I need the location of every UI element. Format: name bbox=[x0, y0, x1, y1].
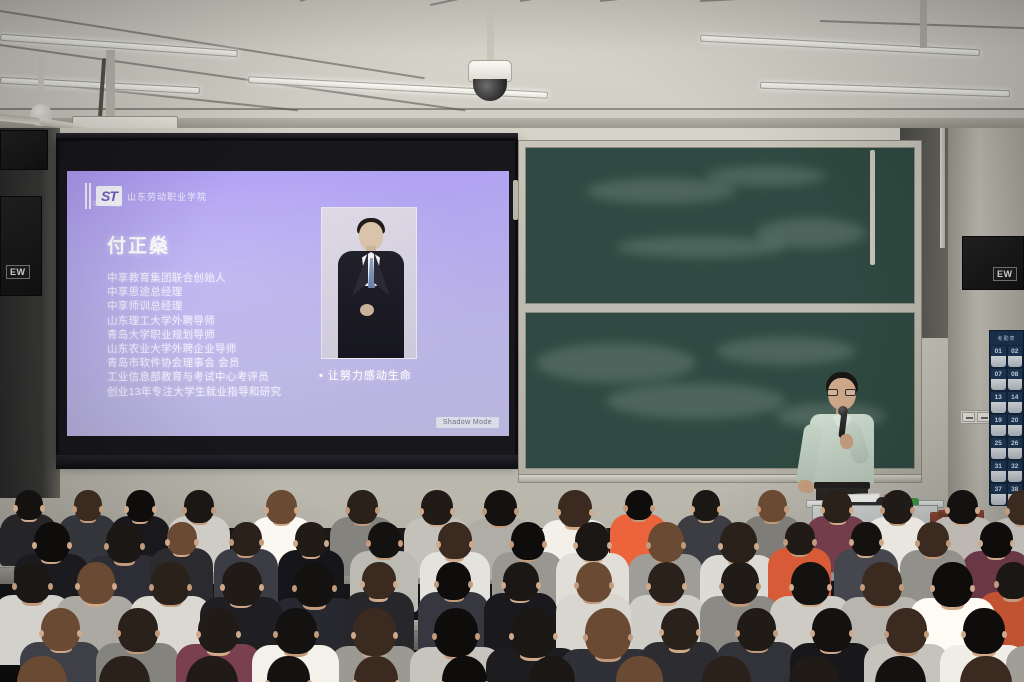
student-ear bbox=[812, 539, 817, 546]
slide-title: 付正燊 bbox=[107, 231, 170, 258]
student-head bbox=[511, 608, 556, 658]
student-ear bbox=[360, 581, 365, 588]
blackboard-panel-upper bbox=[525, 147, 915, 304]
student-ear bbox=[827, 584, 832, 591]
student bbox=[504, 656, 600, 682]
portrait-hand bbox=[360, 304, 374, 316]
student-ear bbox=[810, 630, 815, 637]
student-ear bbox=[553, 633, 558, 640]
power-outlet[interactable] bbox=[962, 412, 975, 422]
student-ear bbox=[165, 539, 170, 546]
number-chart-pocket bbox=[991, 356, 1006, 367]
student-ear bbox=[628, 634, 633, 641]
audience-seating bbox=[0, 470, 1024, 682]
number-chart-cell: 02 bbox=[1007, 345, 1024, 368]
student-ear bbox=[910, 507, 915, 514]
student-ear bbox=[696, 629, 701, 636]
student-head bbox=[886, 608, 927, 653]
student-ear bbox=[756, 583, 761, 590]
student-ear bbox=[783, 539, 788, 546]
number-chart-row: 1920 bbox=[990, 414, 1023, 437]
student-head bbox=[862, 562, 902, 606]
student-ear bbox=[469, 541, 474, 548]
student-ear bbox=[1010, 540, 1015, 547]
student-ear bbox=[152, 506, 157, 513]
student-ear bbox=[682, 583, 687, 590]
wall-speaker-top-left bbox=[0, 130, 48, 170]
student-head bbox=[648, 562, 685, 603]
wall-pipe bbox=[940, 128, 945, 248]
student-ear bbox=[789, 584, 794, 591]
student-head bbox=[616, 656, 663, 682]
ceiling-conduit-rod bbox=[920, 0, 927, 48]
number-chart-row: 0708 bbox=[990, 368, 1023, 391]
slide-bullet-list: 中享教育集团联合创始人中享思途总经理中享师训总经理山东理工大学外聘导师青岛大学职… bbox=[107, 271, 281, 399]
student-head bbox=[434, 608, 478, 657]
student-head bbox=[368, 522, 401, 558]
projector-mount-rod bbox=[106, 50, 115, 118]
student-ear bbox=[194, 539, 199, 546]
student-ear bbox=[915, 540, 920, 547]
student-head bbox=[851, 522, 882, 556]
student-ear bbox=[273, 631, 278, 638]
shadow-mode-watermark: Shadow Mode bbox=[436, 417, 499, 428]
student-ear bbox=[259, 584, 264, 591]
student-head bbox=[812, 608, 852, 652]
number-chart-header: 考勤表 bbox=[990, 331, 1023, 345]
student-head bbox=[167, 522, 197, 555]
student-ear bbox=[140, 543, 145, 550]
student bbox=[1014, 656, 1024, 682]
student-ear bbox=[754, 543, 759, 550]
student-ear bbox=[67, 542, 72, 549]
student-ear bbox=[609, 582, 614, 589]
student-head bbox=[118, 608, 158, 652]
slide-bullet-item: 青岛大学职业规划导师 bbox=[107, 328, 281, 342]
ceiling-fan-rod bbox=[38, 58, 44, 108]
student-ear bbox=[294, 507, 299, 514]
student-ear bbox=[39, 630, 44, 637]
student-ear bbox=[40, 505, 45, 512]
classroom-photo-scene: EW EW ST 山东劳动职业学院 中国制造 付正燊 中享教育集团联合创始人中享… bbox=[0, 0, 1024, 682]
wall-speaker-right: EW bbox=[962, 236, 1024, 290]
student bbox=[762, 656, 865, 682]
student-ear bbox=[393, 581, 398, 588]
student-ear bbox=[236, 631, 241, 638]
student-head bbox=[106, 522, 143, 563]
student-ear bbox=[351, 632, 356, 639]
student-head bbox=[186, 656, 238, 682]
student-ear bbox=[961, 631, 966, 638]
student-ear bbox=[501, 582, 506, 589]
student-head bbox=[151, 562, 190, 605]
student-ear bbox=[72, 506, 77, 513]
student-head bbox=[758, 490, 787, 522]
student-ear bbox=[930, 585, 935, 592]
student-ear bbox=[475, 633, 480, 640]
student-head bbox=[875, 656, 926, 682]
student-ear bbox=[849, 507, 854, 514]
student-ear bbox=[264, 507, 269, 514]
student-ear bbox=[229, 539, 234, 546]
student-ear bbox=[48, 583, 53, 590]
student-ear bbox=[366, 540, 371, 547]
number-chart-cell: 07 bbox=[990, 368, 1007, 391]
wall-speaker-left: EW bbox=[0, 196, 42, 296]
student-ear bbox=[646, 583, 651, 590]
slide-portrait-photo bbox=[321, 207, 417, 359]
student-ear bbox=[375, 507, 380, 514]
number-chart-row: 2526 bbox=[990, 437, 1023, 460]
student-head bbox=[980, 522, 1013, 558]
board-slide-handle bbox=[513, 180, 518, 220]
student-head bbox=[484, 490, 517, 526]
student-ear bbox=[880, 507, 885, 514]
student-ear bbox=[482, 508, 487, 515]
number-chart-pocket bbox=[991, 425, 1006, 436]
speaker-brand-label: EW bbox=[993, 267, 1017, 281]
number-chart-pocket bbox=[1008, 379, 1023, 390]
student-head bbox=[963, 608, 1005, 654]
number-chart-cell: 20 bbox=[1007, 414, 1024, 437]
student-head bbox=[17, 656, 67, 682]
student-ear bbox=[650, 505, 655, 512]
presentation-slide: ST 山东劳动职业学院 中国制造 付正燊 中享教育集团联合创始人中享思途总经理中… bbox=[67, 171, 509, 436]
number-chart-cell: 25 bbox=[990, 437, 1007, 460]
student-ear bbox=[398, 540, 403, 547]
student-head bbox=[702, 656, 751, 682]
student-head bbox=[585, 608, 631, 659]
student-head bbox=[661, 608, 699, 650]
student-ear bbox=[149, 584, 154, 591]
student-head bbox=[882, 490, 913, 524]
student-ear bbox=[514, 508, 519, 515]
student-head bbox=[99, 656, 150, 682]
student-ear bbox=[946, 540, 951, 547]
student-head bbox=[1007, 490, 1024, 525]
number-chart-pocket bbox=[1008, 448, 1023, 459]
student-head bbox=[353, 608, 396, 656]
number-chart-pocket bbox=[1008, 402, 1023, 413]
student-head bbox=[15, 490, 43, 520]
student-ear bbox=[196, 631, 201, 638]
student-ear bbox=[13, 505, 18, 512]
slide-quote: • 让努力感动生命 bbox=[319, 367, 412, 383]
student-ear bbox=[393, 632, 398, 639]
student-ear bbox=[717, 506, 722, 513]
microphone-head bbox=[838, 406, 848, 416]
student-head bbox=[648, 522, 684, 562]
student-head bbox=[576, 562, 612, 602]
student-ear bbox=[99, 506, 104, 513]
student-ear bbox=[293, 540, 298, 547]
student-ear bbox=[509, 541, 514, 548]
camera-mount-rod bbox=[487, 0, 494, 62]
student-ear bbox=[182, 507, 187, 514]
student-ear bbox=[945, 507, 950, 514]
student-ear bbox=[211, 507, 216, 514]
student-ear bbox=[756, 506, 761, 513]
student bbox=[676, 656, 776, 682]
student-ear bbox=[536, 582, 541, 589]
student-head bbox=[184, 490, 214, 523]
student-ear bbox=[574, 582, 579, 589]
student-ear bbox=[434, 581, 439, 588]
student-ear bbox=[124, 506, 129, 513]
student-ear bbox=[509, 633, 514, 640]
speaker-brand-label: EW bbox=[6, 265, 30, 279]
student-ear bbox=[849, 630, 854, 637]
student-ear bbox=[970, 585, 975, 592]
student-head bbox=[996, 562, 1024, 599]
student-ear bbox=[155, 630, 160, 637]
student-head bbox=[14, 562, 51, 603]
logo-institution-name: 山东劳动职业学院 bbox=[127, 190, 207, 203]
student bbox=[418, 656, 511, 682]
student-head bbox=[347, 490, 378, 524]
number-chart-pocket bbox=[1008, 425, 1023, 436]
student-head bbox=[222, 562, 262, 606]
student-head bbox=[275, 608, 317, 654]
slide-bullet-item: 工业信息部教育与考试中心考评员 bbox=[107, 370, 281, 384]
student-ear bbox=[820, 507, 825, 514]
number-chart-cell: 08 bbox=[1007, 368, 1024, 391]
student bbox=[330, 656, 421, 682]
student-head bbox=[575, 522, 610, 561]
student-ear bbox=[646, 542, 651, 549]
student-ear bbox=[718, 543, 723, 550]
number-chart-pocket bbox=[1008, 356, 1023, 367]
student-ear bbox=[589, 509, 594, 516]
student-ear bbox=[468, 581, 473, 588]
student-head bbox=[41, 608, 80, 651]
student-ear bbox=[75, 583, 80, 590]
student-ear bbox=[220, 584, 225, 591]
number-chart-pocket bbox=[991, 448, 1006, 459]
number-chart-cell: 01 bbox=[990, 345, 1007, 368]
student-ear bbox=[324, 540, 329, 547]
student-head bbox=[77, 562, 115, 604]
student-ear bbox=[849, 539, 854, 546]
student bbox=[244, 656, 332, 682]
student-head bbox=[947, 490, 978, 524]
student-ear bbox=[77, 630, 82, 637]
slide-bullet-item: 创业13年专注大学生就业指导和研究 bbox=[107, 385, 281, 399]
student-ear bbox=[690, 506, 695, 513]
student-ear bbox=[419, 508, 424, 515]
student-head bbox=[295, 522, 327, 557]
student-head bbox=[74, 490, 102, 521]
student-ear bbox=[784, 506, 789, 513]
number-chart-row: 0102 bbox=[990, 345, 1023, 368]
board-slide-handle bbox=[870, 150, 875, 265]
student-ear bbox=[432, 633, 437, 640]
student-head bbox=[791, 562, 830, 605]
student-ear bbox=[884, 631, 889, 638]
number-chart-row: 1314 bbox=[990, 391, 1023, 414]
student-head bbox=[737, 608, 776, 651]
student-head bbox=[231, 522, 262, 556]
student-ear bbox=[187, 584, 192, 591]
student-ear bbox=[332, 585, 337, 592]
student-ear bbox=[607, 542, 612, 549]
student-ear bbox=[12, 583, 17, 590]
student-ear bbox=[773, 630, 778, 637]
projection-screen: ST 山东劳动职业学院 中国制造 付正燊 中享教育集团联合创始人中享思途总经理中… bbox=[56, 138, 518, 463]
student-head bbox=[917, 522, 949, 557]
student-head bbox=[354, 656, 398, 682]
student-ear bbox=[719, 583, 724, 590]
slide-bullet-item: 山东理工大学外聘导师 bbox=[107, 314, 281, 328]
student-head bbox=[511, 522, 545, 560]
student-head bbox=[438, 522, 472, 559]
student-ear bbox=[450, 508, 455, 515]
student bbox=[932, 656, 1024, 682]
student-head bbox=[721, 562, 759, 604]
student-head bbox=[720, 522, 757, 563]
number-chart-pocket bbox=[991, 402, 1006, 413]
student-head bbox=[34, 522, 70, 562]
student-head bbox=[198, 608, 239, 653]
number-chart-cell: 14 bbox=[1007, 391, 1024, 414]
student-head bbox=[932, 562, 973, 607]
student-ear bbox=[345, 507, 350, 514]
number-chart-cell: 26 bbox=[1007, 437, 1024, 460]
student bbox=[590, 656, 688, 682]
logo-accent-bars bbox=[85, 183, 91, 209]
student-head bbox=[692, 490, 720, 521]
number-chart-cell: 13 bbox=[990, 391, 1007, 414]
student-ear bbox=[116, 630, 121, 637]
number-chart-cell: 19 bbox=[990, 414, 1007, 437]
student-head bbox=[362, 562, 396, 599]
student-head bbox=[625, 490, 653, 520]
student-ear bbox=[259, 539, 264, 546]
student-ear bbox=[975, 507, 980, 514]
student-ear bbox=[860, 584, 865, 591]
student-head bbox=[266, 490, 297, 524]
left-wall-shadow bbox=[0, 128, 60, 498]
number-chart-pocket bbox=[991, 379, 1006, 390]
student-head bbox=[442, 656, 487, 682]
student-head bbox=[421, 490, 453, 525]
student-ear bbox=[436, 541, 441, 548]
student-head bbox=[126, 490, 155, 522]
student-ear bbox=[879, 539, 884, 546]
slide-bullet-item: 山东农业大学外聘企业导师 bbox=[107, 342, 281, 356]
glasses-icon bbox=[827, 389, 857, 396]
student-ear bbox=[924, 631, 929, 638]
student-ear bbox=[573, 542, 578, 549]
student-head bbox=[294, 562, 335, 607]
student-ear bbox=[681, 542, 686, 549]
student-ear bbox=[314, 631, 319, 638]
student-ear bbox=[1005, 508, 1010, 515]
student-ear bbox=[899, 584, 904, 591]
slide-bullet-item: 中享师训总经理 bbox=[107, 299, 281, 313]
slide-bullet-item: 中享教育集团联合创始人 bbox=[107, 271, 281, 285]
student-ear bbox=[735, 630, 740, 637]
student-ear bbox=[556, 509, 561, 516]
student-head bbox=[503, 562, 539, 601]
student-ear bbox=[978, 540, 983, 547]
student-head bbox=[436, 562, 471, 600]
student-ear bbox=[32, 542, 37, 549]
student-ear bbox=[583, 634, 588, 641]
logo-subtitle: 中国制造 bbox=[93, 199, 121, 208]
student-ear bbox=[659, 629, 664, 636]
student-head bbox=[960, 656, 1012, 682]
ceiling-panel-seam bbox=[0, 108, 1024, 110]
student-head bbox=[529, 656, 575, 682]
student-head bbox=[785, 522, 815, 555]
screen-bottom-bar bbox=[56, 455, 518, 469]
student-ear bbox=[542, 541, 547, 548]
student-ear bbox=[623, 505, 628, 512]
student-ear bbox=[292, 585, 297, 592]
student-head bbox=[267, 656, 310, 682]
student-ear bbox=[112, 583, 117, 590]
slide-bullet-item: 中享思途总经理 bbox=[107, 285, 281, 299]
student-head bbox=[789, 656, 839, 682]
slide-bullet-item: 青岛市软件协会理事会 会员 bbox=[107, 356, 281, 370]
student-head bbox=[822, 490, 852, 523]
student-ear bbox=[104, 543, 109, 550]
